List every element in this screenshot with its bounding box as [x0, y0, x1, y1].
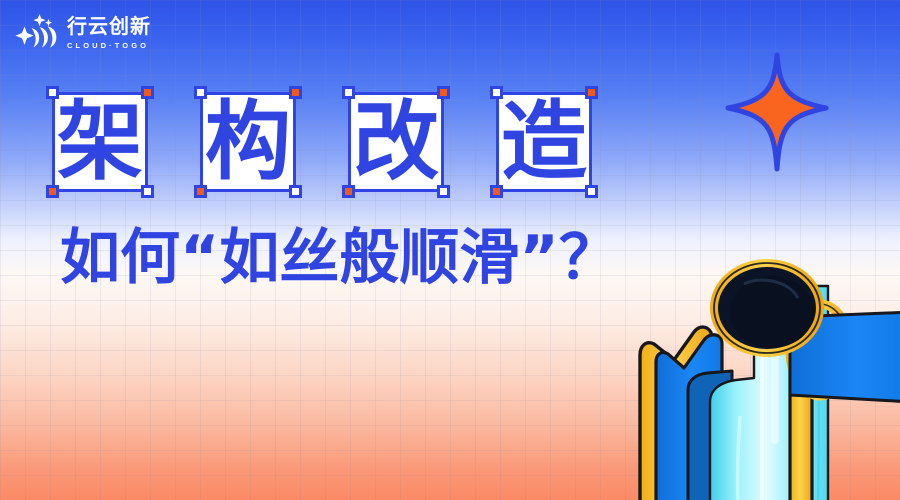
- selection-handle-bottom-right[interactable]: [437, 185, 450, 198]
- title-char-glyph: 构: [203, 99, 293, 185]
- subtitle-text: 如何“如丝般顺滑”？: [60, 228, 619, 288]
- title-char-cell[interactable]: 架: [46, 86, 154, 198]
- selection-handle-top-right[interactable]: [141, 86, 154, 99]
- selection-handle-bottom-left[interactable]: [342, 185, 355, 198]
- selection-handle-top-left[interactable]: [194, 86, 207, 99]
- brand-name-cn: 行云创新: [67, 17, 151, 38]
- selection-handle-top-right[interactable]: [585, 86, 598, 99]
- selection-handle-top-left[interactable]: [490, 86, 503, 99]
- water-slide-illustration: [612, 240, 900, 500]
- selection-handle-bottom-left[interactable]: [490, 185, 503, 198]
- selection-handle-top-right[interactable]: [289, 86, 302, 99]
- title-char-box: 架: [52, 92, 148, 192]
- title-char-box: 构: [200, 92, 296, 192]
- brand-name-en: CLOUD·TOGO: [67, 41, 151, 50]
- four-point-star-icon: [718, 52, 836, 172]
- swoosh-sparkle-logo-icon: [14, 12, 60, 54]
- title-char-box: 造: [496, 92, 592, 192]
- title-char-glyph: 架: [55, 99, 145, 185]
- title-char-cell[interactable]: 改: [342, 86, 450, 198]
- selection-handle-top-left[interactable]: [46, 86, 59, 99]
- title-characters-row: 架 构 改 造: [46, 86, 598, 198]
- title-char-box: 改: [348, 92, 444, 192]
- selection-handle-bottom-left[interactable]: [46, 185, 59, 198]
- selection-handle-bottom-right[interactable]: [141, 185, 154, 198]
- brand-logo-text: 行云创新 CLOUD·TOGO: [67, 17, 151, 50]
- selection-handle-top-left[interactable]: [342, 86, 355, 99]
- title-char-glyph: 造: [499, 99, 589, 185]
- poster-canvas: 行云创新 CLOUD·TOGO 架 构: [0, 0, 900, 500]
- title-char-glyph: 改: [351, 99, 441, 185]
- title-char-cell[interactable]: 造: [490, 86, 598, 198]
- selection-handle-bottom-left[interactable]: [194, 185, 207, 198]
- selection-handle-bottom-right[interactable]: [585, 185, 598, 198]
- title-char-cell[interactable]: 构: [194, 86, 302, 198]
- selection-handle-top-right[interactable]: [437, 86, 450, 99]
- brand-logo[interactable]: 行云创新 CLOUD·TOGO: [14, 12, 151, 54]
- selection-handle-bottom-right[interactable]: [289, 185, 302, 198]
